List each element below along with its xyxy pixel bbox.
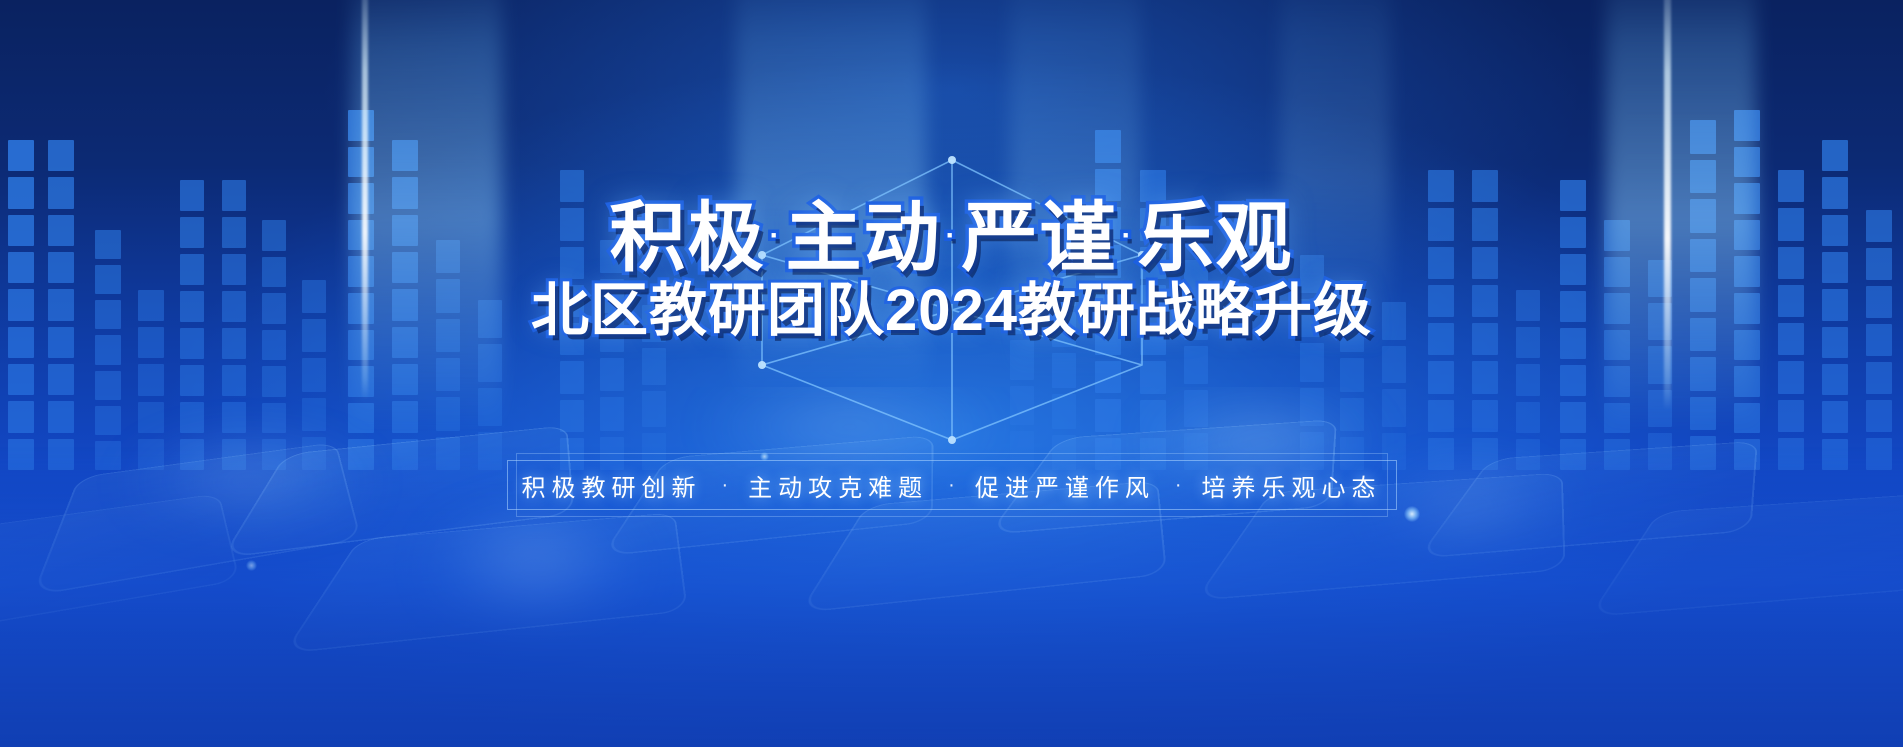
headline-separator: · [770,219,782,252]
tagline-item: 主动攻克难题 [748,468,928,503]
headline-separator: · [946,219,958,252]
tagline-frame: 积极教研创新·主动攻克难题·促进严谨作风·培养乐观心态 [507,460,1397,510]
tagline-separator: · [1175,474,1182,497]
banner-content: 积极·主动·严谨·乐观 北区教研团队2024教研战略升级 积极教研创新·主动攻克… [0,0,1903,747]
tagline-item: 促进严谨作风 [975,468,1155,503]
banner-subtitle: 北区教研团队2024教研战略升级 [0,263,1903,347]
event-banner: 积极·主动·严谨·乐观 北区教研团队2024教研战略升级 积极教研创新·主动攻克… [0,0,1903,747]
headline-separator: · [1122,219,1134,252]
tagline-separator: · [721,474,728,497]
tagline-separator: · [948,474,955,497]
tagline-item: 培养乐观心态 [1202,468,1382,503]
tagline-item: 积极教研创新 [521,468,701,503]
banner-tagline: 积极教研创新·主动攻克难题·促进严谨作风·培养乐观心态 [507,460,1397,510]
